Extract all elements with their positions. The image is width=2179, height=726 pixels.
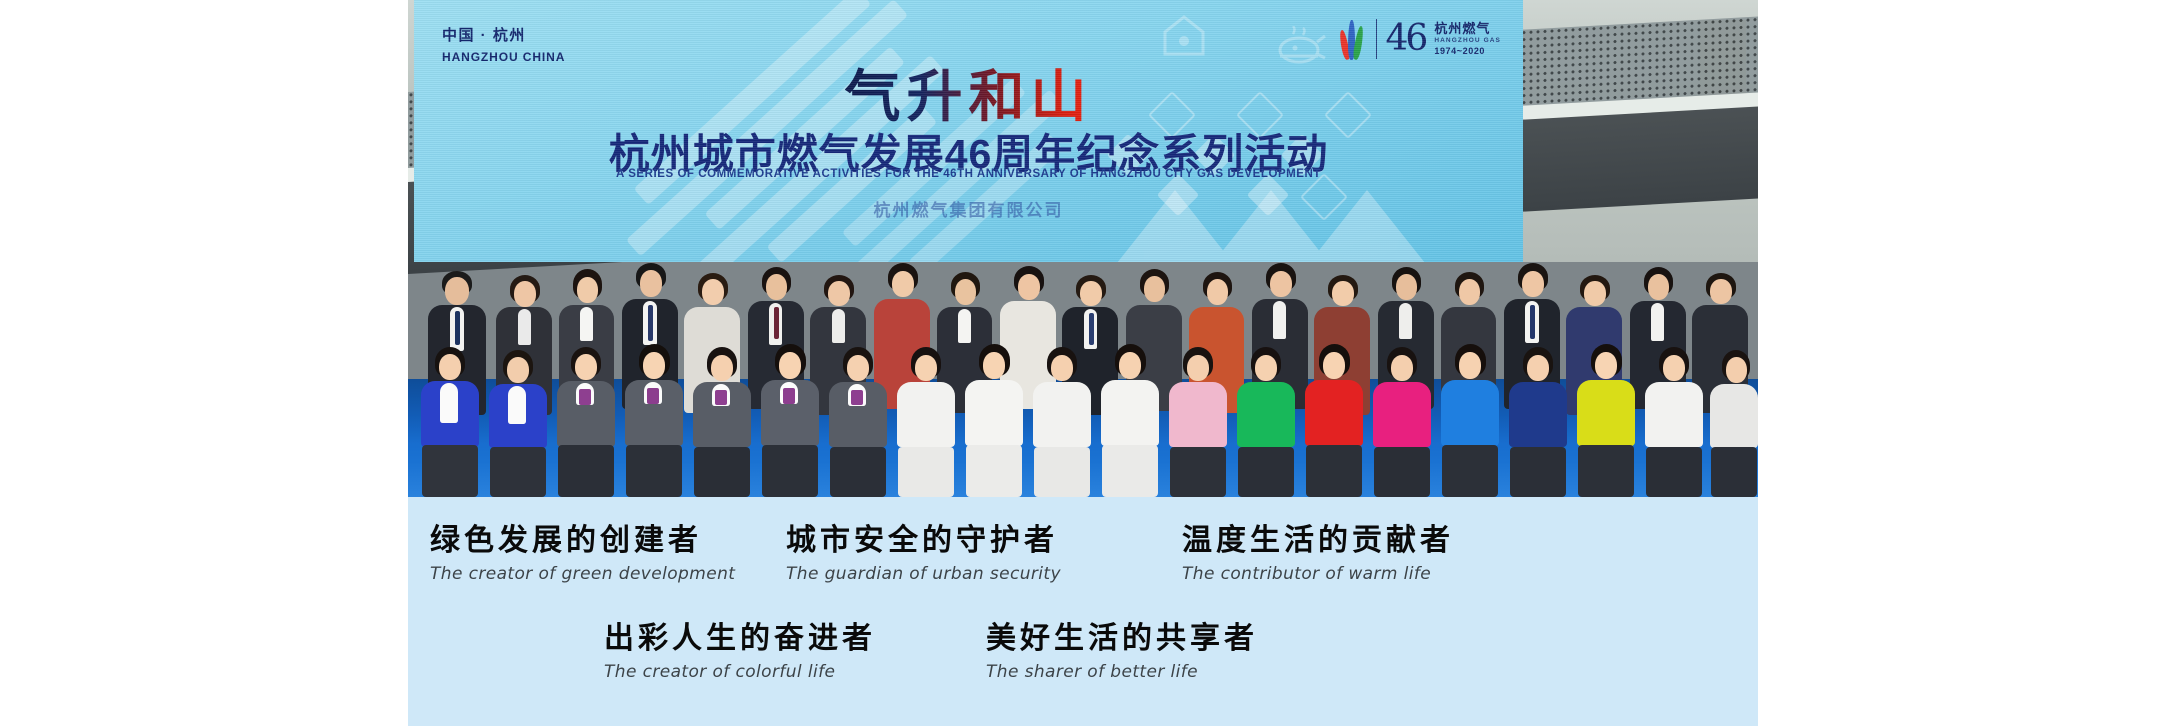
slogan-item: 温度生活的贡献者 The contributor of warm life — [1182, 523, 1522, 584]
person-front-row — [1574, 343, 1636, 497]
person-front-row — [554, 345, 616, 497]
slogan-cn: 出彩人生的奋进者 — [604, 621, 944, 656]
page-root: 中国 · 杭州 HANGZHOU CHINA 46 杭州燃气 HANGZHOU … — [0, 0, 2179, 726]
slogan-en: The contributor of warm life — [1182, 564, 1522, 584]
slogan-item: 绿色发展的创建者 The creator of green developmen… — [430, 523, 770, 584]
person-front-row — [826, 345, 888, 497]
slogan-cn: 城市安全的守护者 — [786, 523, 1126, 558]
person-front-row — [486, 347, 548, 497]
composite-card: 中国 · 杭州 HANGZHOU CHINA 46 杭州燃气 HANGZHOU … — [408, 0, 1758, 726]
gas-stove-pot-icon — [1271, 26, 1327, 77]
person-front-row — [1166, 345, 1228, 497]
slogan-en: The creator of green development — [430, 564, 770, 584]
person-front-row — [690, 345, 752, 497]
slogan-row-2: 出彩人生的奋进者 The creator of colorful life 美好… — [408, 621, 1758, 682]
slogan-en: The creator of colorful life — [604, 662, 944, 682]
locale-en: HANGZHOU CHINA — [442, 49, 565, 65]
flame-icon — [1341, 18, 1367, 60]
logo-divider — [1376, 19, 1377, 59]
slogan-item: 美好生活的共享者 The sharer of better life — [986, 621, 1326, 682]
person-front-row — [1506, 345, 1568, 497]
logo-company-cn: 杭州燃气 — [1434, 21, 1501, 37]
person-front-row — [1098, 343, 1160, 497]
person-front-row — [622, 343, 684, 497]
logo-text-block: 杭州燃气 HANGZHOU GAS 1974~2020 — [1434, 21, 1501, 57]
locale-cn: 中国 · 杭州 — [442, 26, 565, 46]
person-front-row — [1710, 347, 1758, 497]
anniversary-number: 46 — [1386, 21, 1426, 57]
person-front-row — [894, 345, 956, 497]
person-front-row — [1642, 345, 1704, 497]
slogan-cn: 温度生活的贡献者 — [1182, 523, 1522, 558]
person-front-row — [1370, 345, 1432, 497]
group-photo: 中国 · 杭州 HANGZHOU CHINA 46 杭州燃气 HANGZHOU … — [408, 0, 1758, 497]
slogan-row-1: 绿色发展的创建者 The creator of green developmen… — [408, 523, 1758, 584]
slogan-en: The guardian of urban security — [786, 564, 1126, 584]
person-front-row — [1030, 345, 1092, 497]
crowd-of-people — [408, 167, 1758, 497]
house-icon — [1161, 12, 1207, 63]
slogan-en: The sharer of better life — [986, 662, 1326, 682]
slogan-item: 出彩人生的奋进者 The creator of colorful life — [604, 621, 944, 682]
anniversary-logo-lockup: 46 杭州燃气 HANGZHOU GAS 1974~2020 — [1341, 18, 1501, 60]
person-front-row — [962, 343, 1024, 497]
person-front-row — [1234, 345, 1296, 497]
slogan-panel: 绿色发展的创建者 The creator of green developmen… — [408, 497, 1758, 726]
logo-year-range: 1974~2020 — [1434, 46, 1501, 57]
locale-block: 中国 · 杭州 HANGZHOU CHINA — [442, 26, 565, 65]
slogan-cn: 绿色发展的创建者 — [430, 523, 770, 558]
person-front-row — [418, 345, 480, 497]
logo-company-en: HANGZHOU GAS — [1434, 37, 1501, 45]
slogan-cn: 美好生活的共享者 — [986, 621, 1326, 656]
person-front-row — [1438, 343, 1500, 497]
person-front-row — [1302, 343, 1364, 497]
person-front-row — [758, 343, 820, 497]
slogan-item: 城市安全的守护者 The guardian of urban security — [786, 523, 1126, 584]
